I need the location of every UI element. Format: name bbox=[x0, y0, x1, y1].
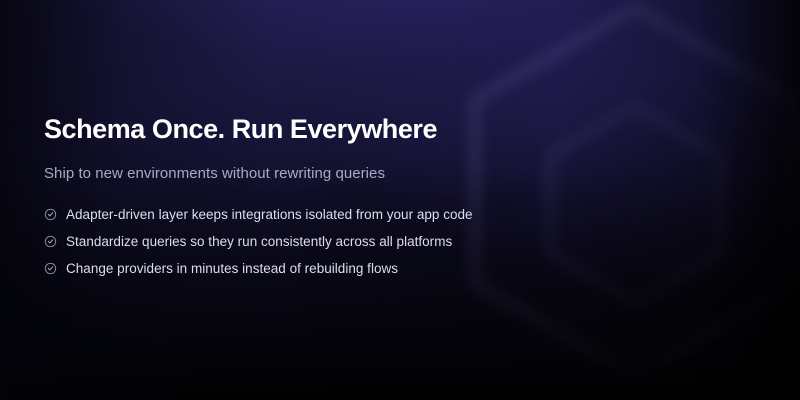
check-circle-icon bbox=[44, 262, 57, 275]
check-circle-icon bbox=[44, 235, 57, 248]
list-item-label: Change providers in minutes instead of r… bbox=[66, 261, 398, 276]
slide-content: Schema Once. Run Everywhere Ship to new … bbox=[44, 112, 644, 282]
list-item: Change providers in minutes instead of r… bbox=[44, 255, 644, 282]
list-item-label: Standardize queries so they run consiste… bbox=[66, 234, 452, 249]
list-item: Adapter-driven layer keeps integrations … bbox=[44, 201, 644, 228]
list-item: Standardize queries so they run consiste… bbox=[44, 228, 644, 255]
benefit-list: Adapter-driven layer keeps integrations … bbox=[44, 201, 644, 282]
slide-title: Schema Once. Run Everywhere bbox=[44, 112, 644, 146]
slide-subtitle: Ship to new environments without rewriti… bbox=[44, 164, 644, 184]
check-circle-icon bbox=[44, 208, 57, 221]
slide-canvas: Schema Once. Run Everywhere Ship to new … bbox=[0, 0, 800, 400]
list-item-label: Adapter-driven layer keeps integrations … bbox=[66, 207, 473, 222]
